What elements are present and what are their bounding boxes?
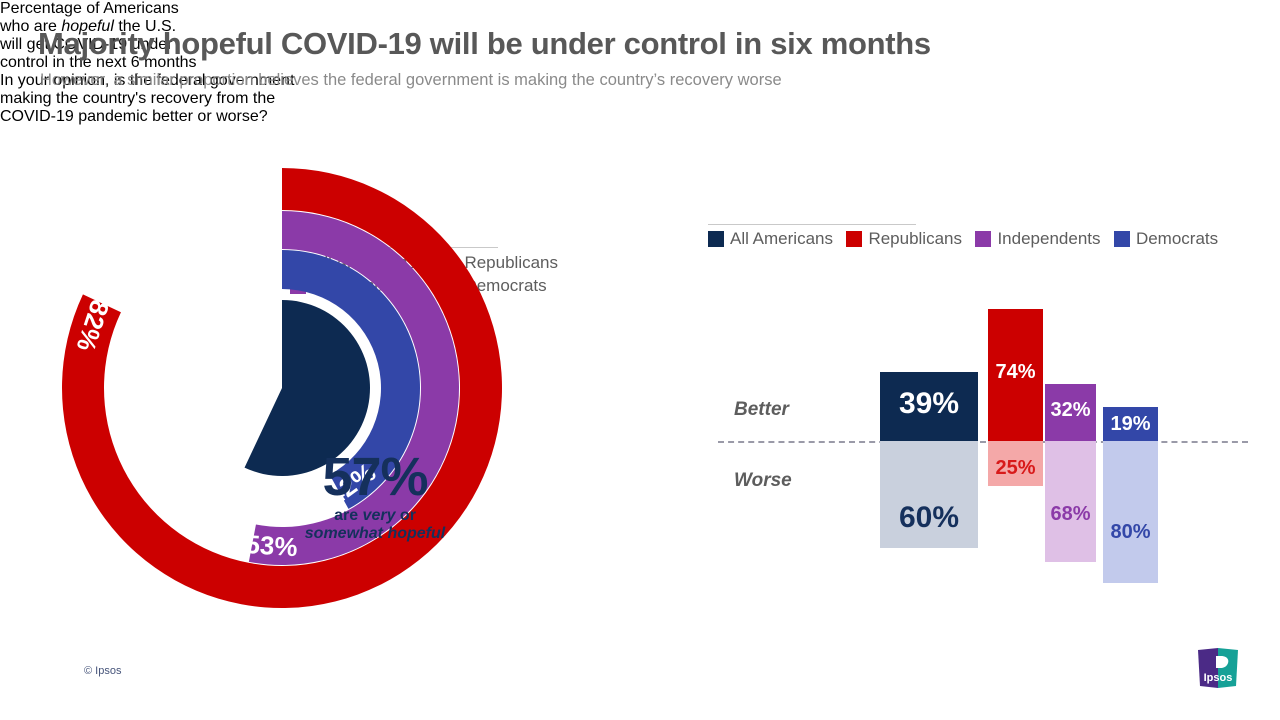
bar-better-republicans[interactable]: 74% bbox=[988, 309, 1043, 441]
bar-worse-independents[interactable]: 68% bbox=[1045, 441, 1096, 562]
copyright-notice: © Ipsos bbox=[84, 665, 121, 677]
right-heading-divider bbox=[708, 224, 916, 225]
legend-label-all-americans: All Americans bbox=[730, 229, 833, 249]
legend-label-independents: Independents bbox=[997, 229, 1100, 249]
bar-worse-all-americans[interactable]: 60% bbox=[880, 441, 978, 548]
bar-value-better-independents: 32% bbox=[1045, 399, 1096, 422]
ipsos-logo-text: Ipsos bbox=[1204, 672, 1233, 684]
right-chart-legend: All Americans Republicans Independents D… bbox=[708, 229, 1268, 249]
legend-swatch-republicans bbox=[846, 231, 862, 247]
bar-better-all-americans[interactable]: 39% bbox=[880, 372, 978, 441]
legend-item-all-americans[interactable]: All Americans bbox=[708, 229, 833, 249]
right-heading-line2: making the country's recovery from the bbox=[0, 90, 275, 107]
bar-value-better-all-americans: 39% bbox=[880, 387, 978, 421]
bar-value-worse-independents: 68% bbox=[1045, 503, 1096, 526]
bar-worse-republicans[interactable]: 25% bbox=[988, 441, 1043, 486]
right-heading-line3: COVID-19 pandemic better or worse? bbox=[0, 108, 268, 125]
bar-worse-democrats[interactable]: 80% bbox=[1103, 441, 1158, 583]
donut-arc-all-americans[interactable] bbox=[245, 300, 370, 476]
legend-swatch-independents bbox=[975, 231, 991, 247]
legend-label-republicans: Republicans bbox=[868, 229, 962, 249]
page-subtitle: However, a similar proportion believes t… bbox=[40, 71, 1240, 90]
bar-value-worse-democrats: 80% bbox=[1103, 521, 1158, 544]
bar-value-worse-republicans: 25% bbox=[988, 457, 1043, 480]
slide-canvas: Majority hopeful COVID-19 will be under … bbox=[0, 0, 1280, 720]
bar-value-worse-all-americans: 60% bbox=[880, 501, 978, 535]
bar-better-independents[interactable]: 32% bbox=[1045, 384, 1096, 441]
legend-swatch-democrats bbox=[1114, 231, 1130, 247]
legend-item-independents[interactable]: Independents bbox=[975, 229, 1100, 249]
axis-label-better: Better bbox=[734, 399, 789, 421]
zero-baseline bbox=[718, 441, 1248, 443]
radial-donut-chart: 82%53%42% 57% are very or somewhat hopef… bbox=[22, 128, 542, 648]
donut-arc-value-independents: 53% bbox=[245, 529, 299, 562]
legend-item-democrats[interactable]: Democrats bbox=[1114, 229, 1218, 249]
left-heading-line1: Percentage of Americans bbox=[0, 0, 179, 17]
legend-item-republicans[interactable]: Republicans bbox=[846, 229, 962, 249]
bar-value-better-democrats: 19% bbox=[1103, 413, 1158, 436]
bar-value-better-republicans: 74% bbox=[988, 361, 1043, 384]
better-worse-bar-chart: Better Worse 39%60%74%25%32%68%19%80% bbox=[700, 260, 1260, 640]
legend-swatch-all-americans bbox=[708, 231, 724, 247]
axis-label-worse: Worse bbox=[734, 470, 792, 492]
legend-label-democrats: Democrats bbox=[1136, 229, 1218, 249]
radial-donut-svg: 82%53%42% bbox=[22, 128, 542, 648]
page-title: Majority hopeful COVID-19 will be under … bbox=[38, 26, 1248, 62]
bar-better-democrats[interactable]: 19% bbox=[1103, 407, 1158, 441]
ipsos-logo: Ipsos bbox=[1196, 646, 1240, 690]
